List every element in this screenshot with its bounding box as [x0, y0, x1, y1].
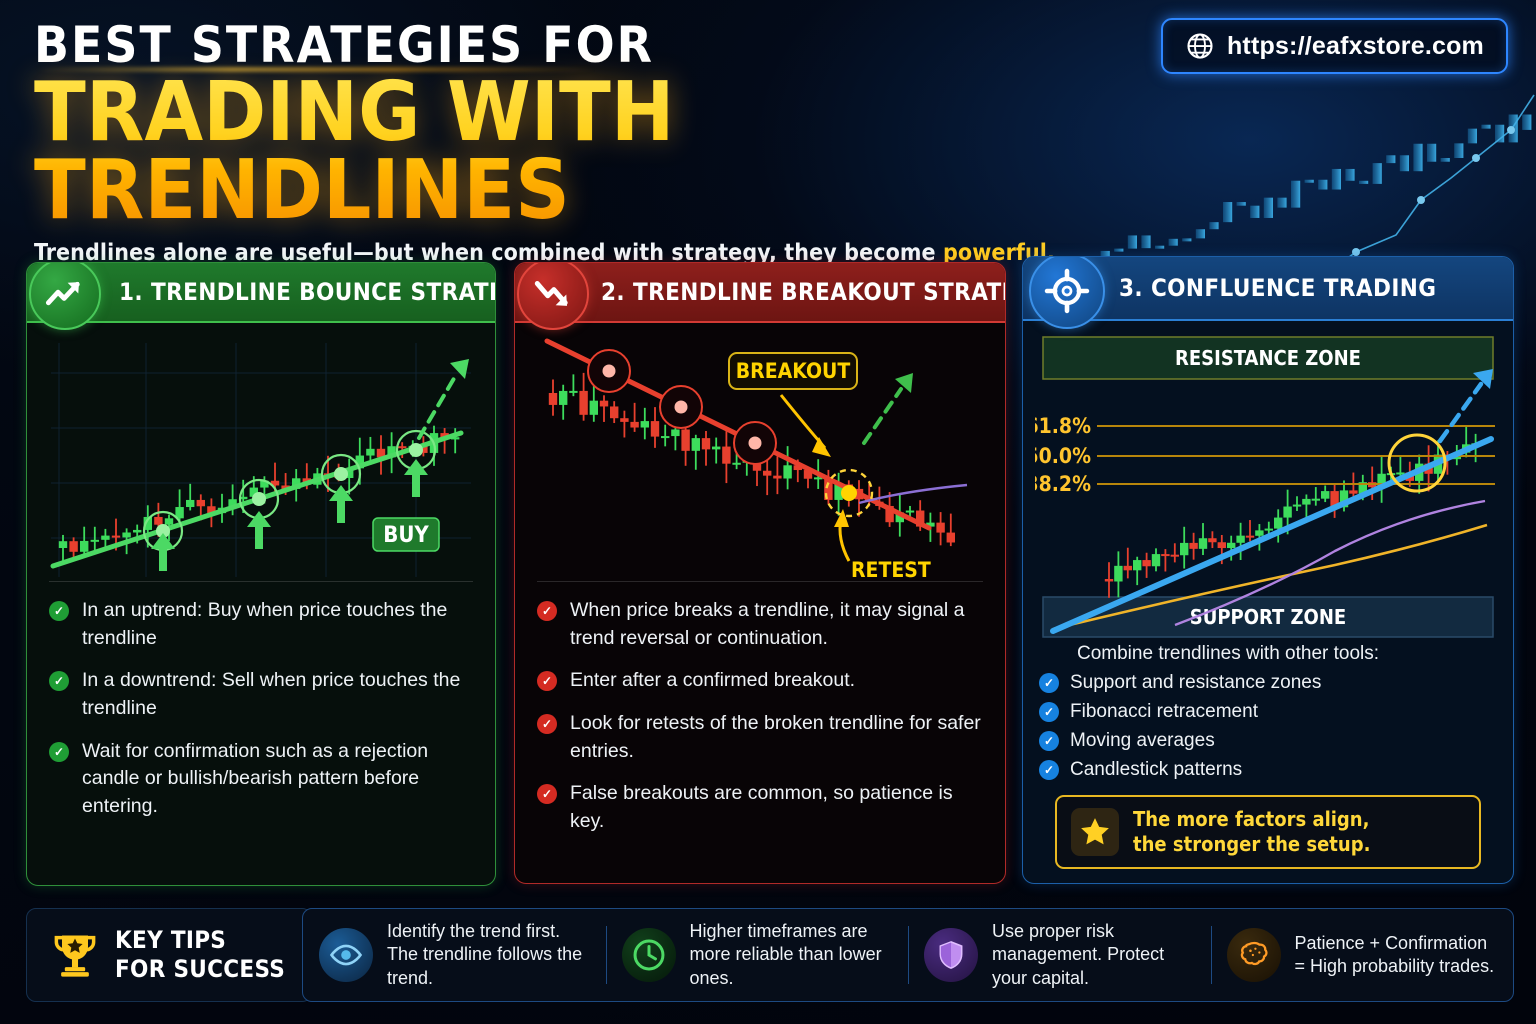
star-icon-box	[1071, 808, 1119, 856]
check-icon: ✓	[1039, 731, 1059, 751]
title-line-2: TRADING WITH TRENDLINES	[34, 74, 1188, 230]
check-icon: ✓	[537, 714, 557, 734]
key-tips-line-2: FOR SUCCESS	[115, 955, 285, 984]
check-icon: ✓	[49, 601, 69, 621]
card-trendline-bounce[interactable]: 1. TRENDLINE BOUNCE STRATEGY	[26, 262, 496, 886]
check-icon: ✓	[49, 671, 69, 691]
check-icon: ✓	[49, 742, 69, 762]
list-item-label: Fibonacci retracement	[1070, 701, 1258, 723]
tip-text: Higher timeframes are more reliable than…	[690, 920, 893, 990]
card1-divider	[49, 581, 473, 582]
card-confluence-trading[interactable]: 3. CONFLUENCE TRADING RESISTANCE ZONE SU…	[1022, 256, 1514, 884]
bullet-text: Look for retests of the broken trendline…	[570, 710, 983, 765]
list-item: ✓Fibonacci retracement	[1039, 701, 1497, 723]
tip-item: Patience + Confirmation = High probabili…	[1211, 920, 1514, 990]
check-icon: ✓	[537, 601, 557, 621]
fib-label-618: 61.8%	[1035, 414, 1091, 438]
crosshair-target-icon	[1044, 268, 1090, 314]
card-trendline-breakout[interactable]: 2. TRENDLINE BREAKOUT STRATEGY BREAKOUT	[514, 262, 1006, 884]
bullet-item: ✓In a downtrend: Sell when price touches…	[49, 667, 473, 722]
card3-title: 3. CONFLUENCE TRADING	[1119, 274, 1436, 302]
card2-chart: BREAKOUT RETEST	[529, 333, 991, 591]
star-icon	[1078, 815, 1112, 849]
key-tips-line-1: KEY TIPS	[115, 926, 285, 955]
bullet-text: In a downtrend: Sell when price touches …	[82, 667, 473, 722]
fib-label-382: 38.2%	[1035, 472, 1091, 496]
list-item: ✓Candlestick patterns	[1039, 759, 1497, 781]
card2-title: 2. TRENDLINE BREAKOUT STRATEGY	[601, 278, 1006, 306]
tip-item: Identify the trend first. The trendline …	[303, 920, 606, 990]
key-tips-text: KEY TIPS FOR SUCCESS	[115, 926, 285, 984]
bullet-text: In an uptrend: Buy when price touches th…	[82, 597, 473, 652]
check-icon: ✓	[537, 784, 557, 804]
card1-bullet-list: ✓In an uptrend: Buy when price touches t…	[27, 597, 495, 836]
list-item-label: Support and resistance zones	[1070, 672, 1321, 694]
bullet-item: ✓False breakouts are common, so patience…	[537, 780, 983, 835]
bullet-item: ✓Wait for confirmation such as a rejecti…	[49, 738, 473, 821]
card2-divider	[537, 581, 983, 582]
infographic-page: BEST STRATEGIES FOR TRADING WITH TRENDLI…	[0, 0, 1536, 1024]
support-zone-label: SUPPORT ZONE	[1190, 605, 1346, 629]
bullet-text: False breakouts are common, so patience …	[570, 780, 983, 835]
svg-text:BREAKOUT: BREAKOUT	[736, 359, 851, 383]
page-header: BEST STRATEGIES FOR TRADING WITH TRENDLI…	[34, 20, 1154, 266]
globe-icon	[1185, 31, 1215, 61]
check-icon: ✓	[1039, 673, 1059, 693]
check-icon: ✓	[1039, 702, 1059, 722]
tip-item: Use proper risk management. Protect your…	[908, 920, 1211, 990]
tip-text: Patience + Confirmation = High probabili…	[1295, 932, 1498, 979]
key-tips-header: KEY TIPS FOR SUCCESS	[26, 908, 312, 1002]
card3-content: Combine trendlines with other tools: ✓Su…	[1023, 643, 1513, 869]
shield-icon	[924, 928, 978, 982]
check-icon: ✓	[537, 671, 557, 691]
brain-icon	[1227, 928, 1281, 982]
svg-text:RETEST: RETEST	[851, 558, 931, 582]
website-url-text: https://eafxstore.com	[1227, 32, 1484, 61]
list-item-label: Moving averages	[1070, 730, 1215, 752]
tip-text: Identify the trend first. The trendline …	[387, 920, 590, 990]
list-item-label: Candlestick patterns	[1070, 759, 1242, 781]
card1-chart: BUY	[41, 333, 481, 591]
crosshair-target-icon-badge	[1029, 256, 1105, 329]
card3-callout-text: The more factors align, the stronger the…	[1133, 807, 1370, 857]
card1-title: 1. TRENDLINE BOUNCE STRATEGY	[119, 278, 496, 306]
bullet-item: ✓When price breaks a trendline, it may s…	[537, 597, 983, 652]
card3-chart: RESISTANCE ZONE SUPPORT ZONE 61.8% 50.0%…	[1035, 329, 1501, 641]
callout-line-2: the stronger the setup.	[1133, 832, 1370, 857]
card3-lead-text: Combine trendlines with other tools:	[1077, 643, 1497, 665]
breakout-label: BREAKOUT	[729, 353, 857, 389]
buy-label: BUY	[373, 518, 439, 551]
list-item: ✓Moving averages	[1039, 730, 1497, 752]
trend-up-icon	[44, 273, 86, 315]
title-line-1: BEST STRATEGIES FOR	[34, 20, 1176, 70]
tip-item: Higher timeframes are more reliable than…	[606, 920, 909, 990]
list-item: ✓Support and resistance zones	[1039, 672, 1497, 694]
eye-icon	[319, 928, 373, 982]
card3-callout: The more factors align, the stronger the…	[1055, 795, 1481, 869]
bullet-text: Enter after a confirmed breakout.	[570, 667, 855, 695]
retest-label: RETEST	[851, 558, 931, 582]
bullet-text: Wait for confirmation such as a rejectio…	[82, 738, 473, 821]
trend-down-icon	[532, 273, 574, 315]
card3-tools-list: ✓Support and resistance zones✓Fibonacci …	[1039, 672, 1497, 781]
fib-label-500: 50.0%	[1035, 444, 1091, 468]
callout-line-1: The more factors align,	[1133, 807, 1370, 832]
bullet-item: ✓Enter after a confirmed breakout.	[537, 667, 983, 695]
clock-icon	[622, 928, 676, 982]
svg-text:BUY: BUY	[383, 523, 429, 548]
resistance-zone-label: RESISTANCE ZONE	[1175, 346, 1361, 370]
card2-bullet-list: ✓When price breaks a trendline, it may s…	[515, 597, 1005, 851]
trophy-icon	[49, 927, 101, 983]
bullet-item: ✓Look for retests of the broken trendlin…	[537, 710, 983, 765]
check-icon: ✓	[1039, 760, 1059, 780]
bullet-text: When price breaks a trendline, it may si…	[570, 597, 983, 652]
tips-bar: Identify the trend first. The trendline …	[302, 908, 1514, 1002]
website-url-badge[interactable]: https://eafxstore.com	[1161, 18, 1508, 74]
tip-text: Use proper risk management. Protect your…	[992, 920, 1195, 990]
bullet-item: ✓In an uptrend: Buy when price touches t…	[49, 597, 473, 652]
